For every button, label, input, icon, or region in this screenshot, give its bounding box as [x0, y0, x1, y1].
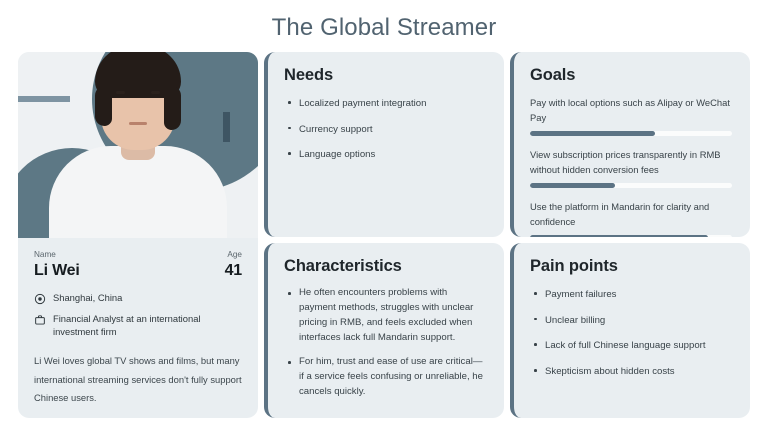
needs-list: Localized payment integration Currency s… [284, 95, 486, 164]
list-item: Payment failures [532, 286, 732, 304]
list-item: Currency support [286, 121, 486, 139]
decorative-bar-vertical-icon [223, 112, 230, 142]
profile-meta: Shanghai, China Financial Analyst at an … [34, 291, 242, 339]
profile-info: Name Li Wei Age 41 [18, 238, 258, 418]
goal-progress-fill [530, 183, 615, 188]
goal-item: Use the platform in Mandarin for clarity… [530, 199, 732, 237]
goal-progress-track [530, 235, 732, 237]
goals-card: Goals Pay with local options such as Ali… [510, 52, 750, 237]
page-title: The Global Streamer [0, 0, 768, 55]
name-field: Name Li Wei [34, 250, 80, 280]
goal-text: Pay with local options such as Alipay or… [530, 95, 732, 125]
list-item: Unclear billing [532, 312, 732, 330]
name-age-row: Name Li Wei Age 41 [34, 250, 242, 280]
goals-title: Goals [530, 66, 732, 85]
briefcase-icon [34, 314, 46, 326]
name-label: Name [34, 250, 80, 261]
profile-card: Name Li Wei Age 41 [18, 52, 258, 418]
characteristics-card: Characteristics He often encounters prob… [264, 243, 504, 418]
age-field: Age 41 [225, 250, 242, 280]
needs-card: Needs Localized payment integration Curr… [264, 52, 504, 237]
occupation-row: Financial Analyst at an international in… [34, 312, 242, 339]
name-value: Li Wei [34, 262, 80, 280]
list-item: For him, trust and ease of use are criti… [286, 355, 486, 400]
goal-progress-fill [530, 235, 708, 237]
list-item: He often encounters problems with paymen… [286, 286, 486, 345]
portrait-illustration [45, 62, 231, 238]
age-value: 41 [225, 262, 242, 280]
goal-progress-track [530, 183, 732, 188]
pain-points-list: Payment failures Unclear billing Lack of… [530, 286, 732, 381]
goal-item: Pay with local options such as Alipay or… [530, 95, 732, 136]
occupation-text: Financial Analyst at an international in… [53, 312, 242, 339]
location-row: Shanghai, China [34, 291, 242, 305]
list-item: Language options [286, 146, 486, 164]
persona-page: The Global Streamer [0, 0, 768, 432]
list-item: Lack of full Chinese language support [532, 337, 732, 355]
pain-points-card: Pain points Payment failures Unclear bil… [510, 243, 750, 418]
goal-progress-track [530, 131, 732, 136]
pain-points-title: Pain points [530, 257, 732, 276]
profile-photo [18, 52, 258, 238]
goal-text: View subscription prices transparently i… [530, 147, 732, 177]
characteristics-title: Characteristics [284, 257, 486, 276]
location-text: Shanghai, China [53, 291, 122, 304]
profile-bio: Li Wei loves global TV shows and films, … [34, 352, 242, 408]
goal-progress-fill [530, 131, 655, 136]
goal-item: View subscription prices transparently i… [530, 147, 732, 188]
list-item: Localized payment integration [286, 95, 486, 113]
age-label: Age [225, 250, 242, 261]
needs-title: Needs [284, 66, 486, 85]
characteristics-list: He often encounters problems with paymen… [284, 286, 486, 400]
goal-text: Use the platform in Mandarin for clarity… [530, 199, 732, 229]
list-item: Skepticism about hidden costs [532, 363, 732, 381]
persona-grid: Name Li Wei Age 41 [18, 52, 750, 418]
location-pin-icon [34, 293, 46, 305]
